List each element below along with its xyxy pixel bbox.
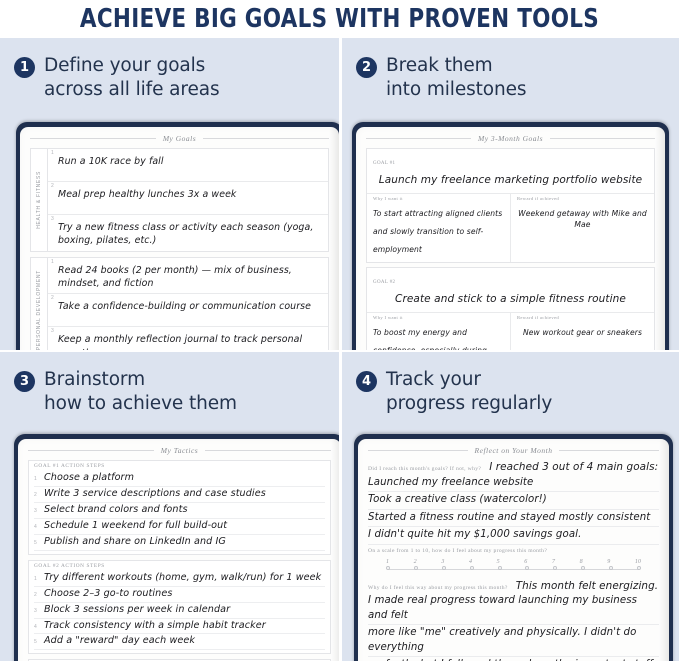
scale-dot[interactable]	[386, 566, 390, 570]
scale-tick: 10	[635, 559, 641, 565]
tactic-text: Select brand colors and fonts	[44, 504, 188, 517]
scale-track	[386, 566, 641, 573]
milestone-reward-col[interactable]: Reward if achieved New workout gear or s…	[510, 313, 654, 350]
scale-tick: 5	[497, 559, 500, 565]
scale-tick: 9	[607, 559, 610, 565]
tactic-text: Choose 2–3 go-to routines	[44, 588, 172, 601]
tactics-block: GOAL #2 ACTION STEPS 1Try different work…	[28, 560, 331, 655]
step-title-4-line2: progress regularly	[386, 392, 552, 416]
notebook-page-title-4: Reflect on Your Month	[368, 446, 659, 455]
page-title: ACHIEVE BIG GOALS WITH PROVEN TOOLS	[27, 0, 652, 38]
step-title-4: Track your progress regularly	[386, 368, 552, 415]
goal-row[interactable]: 2 Meal prep healthy lunches 3x a week	[48, 182, 328, 215]
tactic-line[interactable]: 5Add a "reward" day each week	[34, 634, 325, 650]
reflect-question-1-row: Did I reach this month's goals? If not, …	[368, 460, 659, 475]
milestone-goal-cols: Why I want it To boost my energy and con…	[367, 313, 654, 350]
step-badge-4: 4	[356, 371, 377, 392]
scale-tick: 6	[524, 559, 527, 565]
tactic-line[interactable]: 3Select brand colors and fonts	[34, 503, 325, 519]
scale-tick: 2	[414, 559, 417, 565]
step-title-2-line1: Break them	[386, 55, 493, 76]
tactic-line[interactable]: 2Write 3 service descriptions and case s…	[34, 487, 325, 503]
goal-row-number: 1	[51, 259, 54, 265]
step-badge-2: 2	[356, 57, 377, 78]
tactic-number: 3	[34, 608, 39, 614]
step-title-1: Define your goals across all life areas	[44, 54, 220, 101]
reward-label: Reward if achieved	[517, 196, 648, 201]
category-label: HEALTH & FITNESS	[36, 171, 42, 229]
scale-dot[interactable]	[414, 566, 418, 570]
scale-dot[interactable]	[470, 566, 474, 570]
step-title-3: Brainstorm how to achieve them	[44, 368, 237, 415]
scale-dot[interactable]	[637, 566, 641, 570]
goal-category: PERSONAL DEVELOPMENT 1 Read 24 books (2 …	[30, 257, 329, 350]
step-panel-4: 4 Track your progress regularly Reflect …	[342, 352, 679, 661]
notebook-page-title-1: My Goals	[30, 134, 329, 143]
milestone-why-col[interactable]: Why I want it To boost my energy and con…	[367, 313, 510, 350]
milestone-why-col[interactable]: Why I want it To start attracting aligne…	[367, 194, 510, 262]
notebook-2: My 3-Month Goals GOAL #1 Launch my freel…	[352, 122, 669, 350]
reward-text: Weekend getaway with Mike and Mae	[517, 203, 648, 231]
tactic-line[interactable]: 4Schedule 1 weekend for full build-out	[34, 519, 325, 535]
progress-scale[interactable]: 1 2 3 4 5 6 7 8 9 10	[368, 559, 659, 573]
tactics-block-label: GOAL #1 ACTION STEPS	[29, 461, 330, 471]
tactic-text: Write 3 service descriptions and case st…	[44, 488, 266, 501]
goal-row-number: 3	[51, 328, 54, 334]
scale-dot[interactable]	[581, 566, 585, 570]
milestone-goal-head: GOAL #2	[367, 268, 654, 288]
step-header-3: 3 Brainstorm how to achieve them	[0, 352, 339, 421]
reflect-answer-3-lead: This month felt energizing.	[516, 579, 659, 594]
goal-category: HEALTH & FITNESS 1 Run a 10K race by fal…	[30, 148, 329, 252]
milestone-goal-tag: GOAL #2	[373, 280, 395, 285]
milestone-goal-cols: Why I want it To start attracting aligne…	[367, 194, 654, 262]
goal-row[interactable]: 1 Run a 10K race by fall	[48, 149, 328, 182]
step-title-4-line1: Track your	[386, 369, 481, 390]
step-title-1-line2: across all life areas	[44, 78, 220, 102]
why-text: To boost my energy and confidence, espec…	[373, 328, 487, 350]
scale-dot[interactable]	[498, 566, 502, 570]
why-label: Why I want it	[373, 196, 504, 201]
step-panel-1: 1 Define your goals across all life area…	[0, 38, 339, 350]
category-label: PERSONAL DEVELOPMENT	[36, 270, 42, 350]
step-header-4: 4 Track your progress regularly	[342, 352, 679, 421]
step-title-1-line1: Define your goals	[44, 55, 205, 76]
scale-dot[interactable]	[525, 566, 529, 570]
notebook-page-4: Reflect on Your Month Did I reach this m…	[358, 439, 669, 661]
tactic-number: 5	[34, 540, 39, 546]
tactic-number: 4	[34, 524, 39, 530]
reflect-answer-line[interactable]: Started a fitness routine and stayed mos…	[368, 511, 659, 527]
milestone-goal-text: Launch my freelance marketing portfolio …	[367, 169, 654, 194]
step-title-2: Break them into milestones	[386, 54, 526, 101]
tactic-text: Schedule 1 weekend for full build-out	[44, 520, 227, 533]
goal-row-number: 2	[51, 183, 54, 189]
tactic-text: Block 3 sessions per week in calendar	[44, 604, 230, 617]
goals-list: HEALTH & FITNESS 1 Run a 10K race by fal…	[30, 148, 329, 350]
notebook-4: Reflect on Your Month Did I reach this m…	[354, 434, 673, 661]
tactic-number: 1	[34, 576, 39, 582]
tactic-number: 1	[34, 476, 39, 482]
category-rows: 1 Run a 10K race by fall 2 Meal prep hea…	[48, 149, 328, 251]
notebook-page-1: My Goals HEALTH & FITNESS 1 Run a 10K ra…	[20, 127, 339, 350]
goal-row-text: Take a confidence-building or communicat…	[58, 295, 324, 313]
scale-tick: 4	[469, 559, 472, 565]
tactics-list: 1Choose a platform 2Write 3 service desc…	[29, 471, 330, 554]
tactic-number: 3	[34, 508, 39, 514]
scale-tick: 3	[441, 559, 444, 565]
poster-page: ACHIEVE BIG GOALS WITH PROVEN TOOLS 1 De…	[0, 0, 679, 661]
reflect-question-3-row: Why do I feel this way about my progress…	[368, 579, 659, 594]
tactic-number: 2	[34, 492, 39, 498]
goal-row-number: 2	[51, 295, 54, 301]
scale-dot[interactable]	[553, 566, 557, 570]
step-badge-3: 3	[14, 371, 35, 392]
step-title-3-line2: how to achieve them	[44, 392, 237, 416]
tactic-line[interactable]: 5Publish and share on LinkedIn and IG	[34, 535, 325, 551]
tactic-text: Choose a platform	[44, 472, 134, 485]
reflect-question-1: Did I reach this month's goals? If not, …	[368, 466, 481, 472]
goal-row[interactable]: 2 Take a confidence-building or communic…	[48, 294, 328, 327]
category-spine: PERSONAL DEVELOPMENT	[31, 258, 48, 350]
reflect-answer-1-lead: I reached 3 out of 4 main goals:	[489, 460, 658, 475]
tactic-line[interactable]: 4Track consistency with a simple habit t…	[34, 619, 325, 635]
tactic-number: 4	[34, 624, 39, 630]
goal-row-number: 1	[51, 150, 54, 156]
tactic-number: 2	[34, 592, 39, 598]
scale-tick: 8	[580, 559, 583, 565]
notebook-page-3: My Tactics GOAL #1 ACTION STEPS 1Choose …	[18, 439, 339, 661]
goal-row[interactable]: 1 Read 24 books (2 per month) — mix of b…	[48, 258, 328, 295]
scale-dot[interactable]	[442, 566, 446, 570]
milestone-goal-text: Create and stick to a simple fitness rou…	[367, 288, 654, 313]
category-rows: 1 Read 24 books (2 per month) — mix of b…	[48, 258, 328, 350]
reflect-question-2: On a scale from 1 to 10, how do I feel a…	[368, 548, 659, 554]
goal-row-text: Run a 10K race by fall	[58, 150, 324, 168]
milestone-reward-col[interactable]: Reward if achieved Weekend getaway with …	[510, 194, 654, 262]
tactic-line[interactable]: 1Try different workouts (home, gym, walk…	[34, 571, 325, 587]
tactic-line[interactable]: 1Choose a platform	[34, 471, 325, 487]
scale-dots	[386, 566, 641, 570]
reward-text: New workout gear or sneakers	[517, 322, 648, 338]
tactic-text: Track consistency with a simple habit tr…	[44, 620, 266, 633]
goal-row-text: Meal prep healthy lunches 3x a week	[58, 183, 324, 201]
step-title-3-line1: Brainstorm	[44, 369, 145, 390]
step-panel-2: 2 Break them into milestones My 3-Month …	[342, 38, 679, 350]
step-header-2: 2 Break them into milestones	[342, 38, 679, 107]
goal-row-text: Read 24 books (2 per month) — mix of bus…	[58, 259, 324, 291]
tactic-text: Publish and share on LinkedIn and IG	[44, 536, 226, 549]
scale-dot[interactable]	[609, 566, 613, 570]
steps-grid: 1 Define your goals across all life area…	[0, 38, 679, 661]
tactic-line[interactable]: 3Block 3 sessions per week in calendar	[34, 603, 325, 619]
goal-row-number: 3	[51, 216, 54, 222]
reflect-answer-line[interactable]: I didn't quite hit my $1,000 savings goa…	[368, 528, 659, 544]
milestone-goal: GOAL #1 Launch my freelance marketing po…	[366, 148, 655, 263]
step-title-2-line2: into milestones	[386, 78, 526, 102]
goal-row-text: Try a new fitness class or activity each…	[58, 216, 324, 248]
notebook-page-title-3: My Tactics	[28, 446, 331, 455]
tactic-line[interactable]: 2Choose 2–3 go-to routines	[34, 587, 325, 603]
tactics-list: 1Try different workouts (home, gym, walk…	[29, 571, 330, 654]
reflect-question-3: Why do I feel this way about my progress…	[368, 585, 508, 591]
goal-row-text: Keep a monthly reflection journal to tra…	[58, 328, 324, 350]
tactic-text: Try different workouts (home, gym, walk/…	[44, 572, 321, 585]
why-label: Why I want it	[373, 315, 504, 320]
notebook-3: My Tactics GOAL #1 ACTION STEPS 1Choose …	[14, 434, 339, 661]
scale-numbers: 1 2 3 4 5 6 7 8 9 10	[386, 559, 641, 565]
step-header-1: 1 Define your goals across all life area…	[0, 38, 339, 107]
tactic-number: 5	[34, 639, 39, 645]
milestone-goal: GOAL #2 Create and stick to a simple fit…	[366, 267, 655, 350]
notebook-page-title-2: My 3-Month Goals	[366, 134, 655, 143]
reflect-answer-line[interactable]: Launched my freelance website	[368, 476, 659, 492]
step-panel-3: 3 Brainstorm how to achieve them My Tact…	[0, 352, 339, 661]
goal-row[interactable]: 3 Keep a monthly reflection journal to t…	[48, 327, 328, 350]
milestone-goal-tag: GOAL #1	[373, 161, 395, 166]
scale-tick: 7	[552, 559, 555, 565]
category-spine: HEALTH & FITNESS	[31, 149, 48, 251]
tactics-block: GOAL #1 ACTION STEPS 1Choose a platform …	[28, 460, 331, 555]
why-text: To start attracting aligned clients and …	[373, 209, 502, 254]
scale-tick: 1	[386, 559, 389, 565]
tactic-text: Add a "reward" day each week	[44, 635, 195, 648]
notebook-page-2: My 3-Month Goals GOAL #1 Launch my freel…	[356, 127, 665, 350]
milestone-goal-head: GOAL #1	[367, 149, 654, 169]
reward-label: Reward if achieved	[517, 315, 648, 320]
goal-row[interactable]: 3 Try a new fitness class or activity ea…	[48, 215, 328, 251]
tactics-block-label: GOAL #2 ACTION STEPS	[29, 561, 330, 571]
reflect-answer-line[interactable]: Took a creative class (watercolor!)	[368, 493, 659, 509]
reflect-answer-line[interactable]: more like "me" creatively and physically…	[368, 626, 659, 657]
notebook-1: My Goals HEALTH & FITNESS 1 Run a 10K ra…	[16, 122, 339, 350]
step-badge-1: 1	[14, 57, 35, 78]
reflect-answer-line[interactable]: I made real progress toward launching my…	[368, 594, 659, 625]
